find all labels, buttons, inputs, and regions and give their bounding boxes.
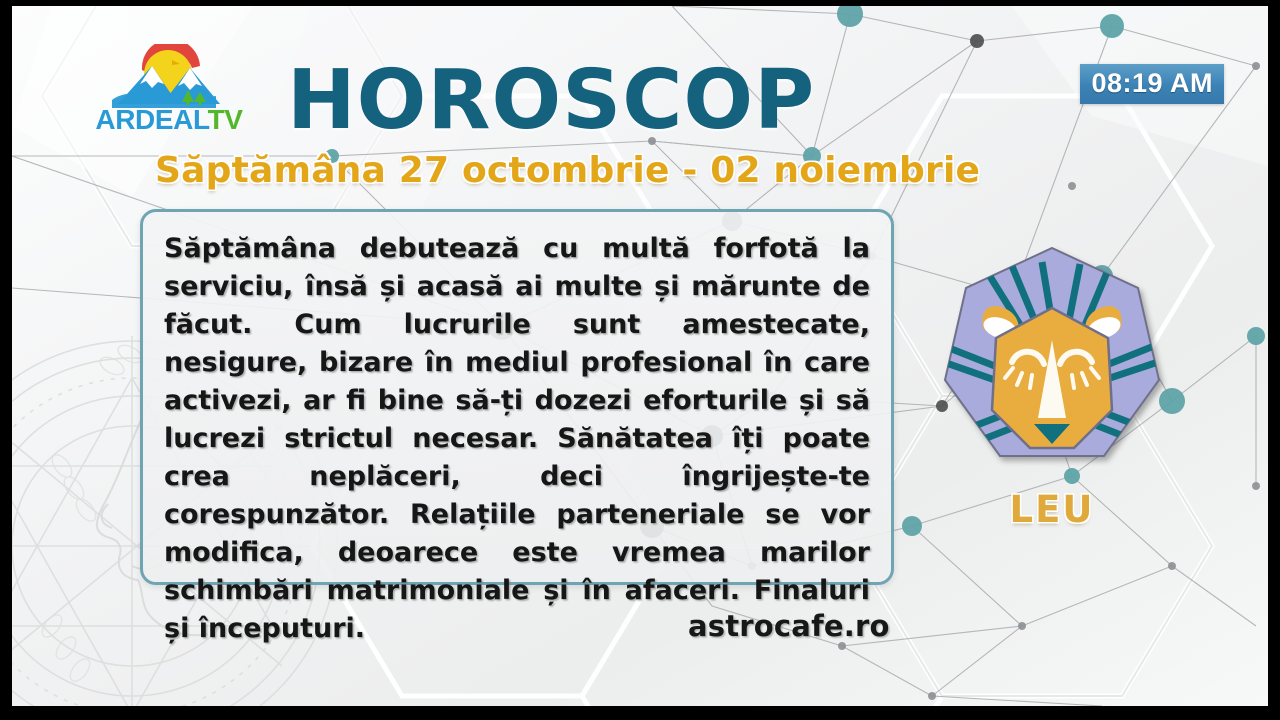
date-range-subtitle: Săptămâna 27 octombrie - 02 noiembrie [155,153,980,189]
letterbox-bottom [0,706,1280,720]
sun-mountain-logo-icon [112,44,224,108]
horoscope-body-text: Săptămâna debutează cu multă forfotă la … [164,230,870,648]
graphic-stage: ARDEALTV HOROSCOP Săptămâna 27 octombrie… [12,6,1268,706]
letterbox-right [1268,0,1280,720]
clock-readout: 08:19 AM [1080,64,1224,104]
channel-name: ARDEALTV [74,104,264,136]
channel-name-primary: ARDEAL [95,104,207,135]
leo-lion-hexagon-icon [912,234,1192,494]
broadcast-screen: ARDEALTV HOROSCOP Săptămâna 27 octombrie… [0,0,1280,720]
letterbox-left [0,0,12,720]
zodiac-emblem [912,234,1192,494]
page-title: HOROSCOP [287,60,815,142]
horoscope-text-panel: Săptămâna debutează cu multă forfotă la … [140,209,894,585]
letterbox-top [0,0,1280,6]
zodiac-sign-label: LEU [912,488,1192,531]
channel-logo: ARDEALTV [74,44,264,142]
channel-name-secondary: TV [208,104,243,135]
source-website: astrocafe.ro [688,609,890,643]
